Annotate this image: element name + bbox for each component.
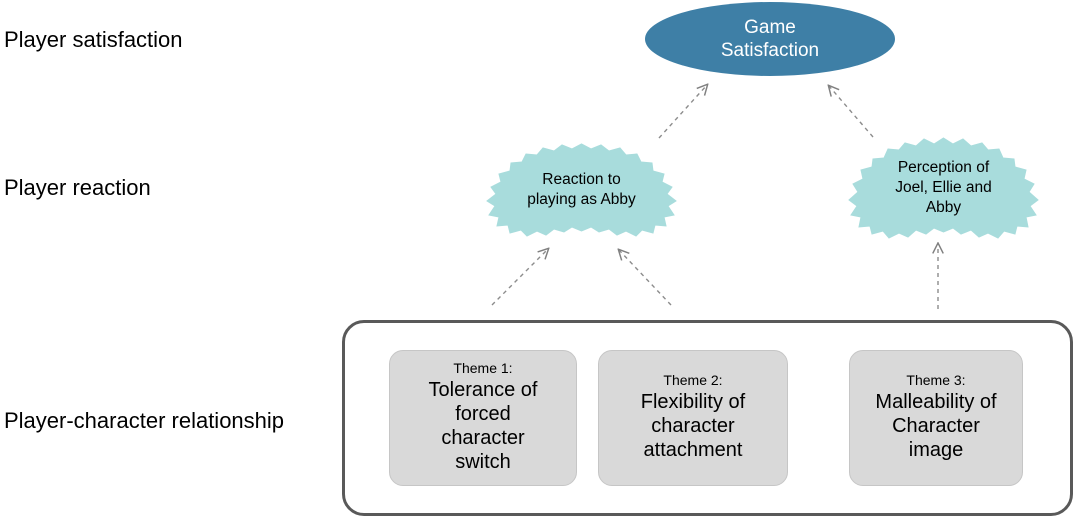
theme-3-kicker: Theme 3: — [906, 372, 965, 388]
theme-3-title: Malleability of Character image — [875, 390, 996, 462]
row-label-player-reaction: Player reaction — [4, 176, 151, 200]
arrow-theme2-to-reaction-abby — [619, 250, 671, 305]
arrow-theme1-to-reaction-abby — [492, 249, 548, 305]
theme-box-1[interactable]: Theme 1: Tolerance of forced character s… — [389, 350, 577, 486]
node-perception-of-joel-ellie-abby-label: Perception of Joel, Ellie and Abby — [895, 158, 992, 217]
node-reaction-to-playing-as-abby[interactable]: Reaction to playing as Abby — [473, 142, 690, 238]
arrow-perception-to-game-satisfaction — [829, 86, 873, 137]
diagram-canvas: Player satisfaction Player reaction Play… — [0, 0, 1084, 524]
node-game-satisfaction-label: Game Satisfaction — [721, 16, 819, 62]
theme-1-title: Tolerance of forced character switch — [429, 378, 538, 474]
row-label-player-satisfaction: Player satisfaction — [4, 28, 183, 52]
theme-2-title: Flexibility of character attachment — [641, 390, 745, 462]
node-perception-of-joel-ellie-abby[interactable]: Perception of Joel, Ellie and Abby — [838, 136, 1049, 240]
theme-box-3[interactable]: Theme 3: Malleability of Character image — [849, 350, 1023, 486]
row-label-player-character-relationship: Player-character relationship — [4, 409, 284, 433]
node-game-satisfaction[interactable]: Game Satisfaction — [645, 2, 895, 76]
theme-box-2[interactable]: Theme 2: Flexibility of character attach… — [598, 350, 788, 486]
node-reaction-to-playing-as-abby-label: Reaction to playing as Abby — [527, 170, 636, 210]
arrow-reaction-abby-to-game-satisfaction — [659, 85, 707, 138]
theme-1-kicker: Theme 1: — [453, 360, 512, 376]
theme-2-kicker: Theme 2: — [663, 372, 722, 388]
